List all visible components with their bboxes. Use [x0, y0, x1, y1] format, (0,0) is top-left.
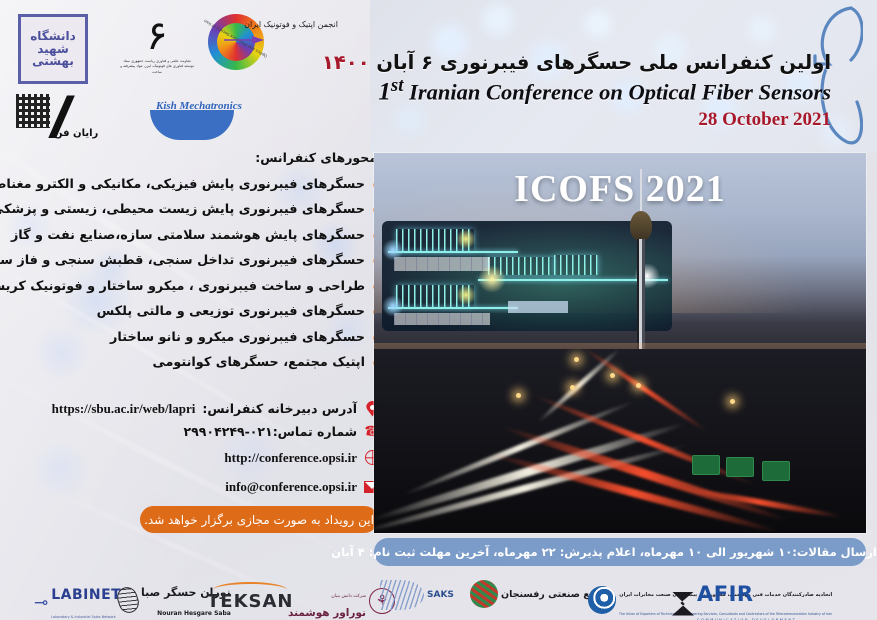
title-block: اولین کنفرانس ملی حسگرهای فیبرنوری ۶ آبا… — [322, 52, 831, 131]
light-blob — [456, 285, 476, 305]
swirl-icon — [588, 586, 616, 614]
sponsor-labinet: ⊸ LABINET Laboratory & Industrial Sales … — [34, 584, 121, 620]
logo-iran-caption: معاونت علمی و فناوری ریاست جمهوری ستاد ت… — [118, 59, 196, 75]
road-sign — [726, 457, 754, 477]
logo-iran-vice-presidency: ۶ معاونت علمی و فناوری ریاست جمهوری ستاد… — [118, 16, 196, 75]
address-link[interactable]: https://sbu.ac.ir/web/lapri — [52, 401, 196, 417]
arc-icon — [213, 582, 287, 590]
iran-emblem-icon: ۶ — [118, 16, 196, 56]
list-item: حسگرهای فیبرنوری توزیعی و مالتی پلکس — [7, 300, 379, 326]
conference-date: 28 October 2021 — [322, 109, 831, 131]
list-item: حسگرهای فیبرنوری میکرو و نانو ساختار — [7, 325, 379, 351]
address-label: آدرس دبیرخانه کنفرانس: — [202, 401, 357, 416]
sponsor-subtitle: شرکت دانش بنیان — [331, 594, 366, 599]
street-lamp — [610, 373, 615, 378]
tower-needle — [640, 169, 642, 213]
deadlines-bar: زمان ارسال مقالات:۱۰ شهریور الی ۱۰ مهرما… — [374, 538, 866, 566]
logo-optics-photonics-society-iran: Optics and Photonics Society of Iran — [200, 6, 272, 78]
light-blob — [456, 229, 476, 249]
sponsor-name: نوراور هوشمند — [288, 607, 366, 619]
fan-lines-icon — [380, 580, 424, 610]
sponsor-safir: AFIR COMMUNICATION DEVELOPMENT — [672, 582, 796, 620]
logo-opsi-ring-text: Optics and Photonics Society of Iran — [200, 6, 272, 78]
qr-pattern-icon — [16, 94, 50, 128]
highway-photo-area — [374, 349, 866, 533]
sponsor-name: SAKS — [427, 590, 454, 600]
contact-address-row: آدرس دبیرخانه کنفرانس: https://sbu.ac.ir… — [7, 400, 381, 417]
virtual-event-notice: این رویداد به صورت مجازی برگزار خواهد شد… — [140, 506, 378, 533]
logo-rayanfan-text: رایان فن — [54, 128, 98, 139]
safir-mark-icon — [672, 592, 694, 616]
logo-kish-text: Kish Mechatronics — [156, 100, 242, 112]
waveguide-coil-icon — [554, 255, 598, 275]
list-item: طراحی و ساخت فیبرنوری ، میکرو ساختار و ف… — [7, 274, 379, 300]
contact-phone-row: ☎ شماره تماس:۰۲۱-۲۹۹۰۴۲۴۹ — [7, 423, 381, 440]
logo-anjoman-text: انجمن اپتیک و فوتونیک ایران — [244, 20, 338, 29]
labinet-mark-icon: ⊸ — [34, 596, 48, 610]
waveguide-line — [388, 307, 518, 309]
sponsor-teksan: TEKSAN Detect Precisely — [207, 582, 293, 620]
topics-heading: محورهای کنفرانس: — [255, 150, 377, 165]
light-blob — [382, 295, 404, 317]
contact-email-row: info@conference.opsi.ir — [7, 478, 381, 495]
logo-shahid-beheshti-university: دانشگاه شهید بهشتی — [18, 14, 88, 84]
logo-rayan-fan: / رایان فن — [16, 92, 120, 144]
title-english: 1st Iranian Conference on Optical Fiber … — [322, 75, 831, 107]
topics-list: حسگرهای فیبرنوری پایش فیزیکی، مکانیکی و … — [7, 172, 379, 376]
logo-kish-mechatronics: Kish Mechatronics — [144, 96, 242, 142]
street-lamp — [636, 383, 641, 388]
sponsor-saks: SAKS — [380, 580, 454, 610]
street-lamp — [516, 393, 521, 398]
contact-website-row: http://conference.opsi.ir — [7, 449, 381, 466]
logo-sbu-text: دانشگاه شهید بهشتی — [21, 30, 85, 69]
sponsor-name: TEKSAN — [207, 591, 293, 612]
road-sign — [762, 461, 790, 481]
conference-hero-image: ICOFS 2021 — [374, 153, 866, 533]
list-item: اپتیک مجتمع، حسگرهای کوانتومی — [7, 351, 379, 377]
email-link[interactable]: info@conference.opsi.ir — [225, 479, 357, 495]
street-lamp — [574, 357, 579, 362]
title-persian: اولین کنفرانس ملی حسگرهای فیبرنوری ۶ آبا… — [322, 52, 831, 74]
grating-plate — [394, 313, 490, 325]
sponsor-logo-bar: ⊸ LABINET Laboratory & Industrial Sales … — [0, 572, 877, 620]
caliper-icon — [508, 301, 568, 313]
sponsor-name: AFIR — [697, 582, 754, 606]
conference-poster: اولین کنفرانس ملی حسگرهای فیبرنوری ۶ آبا… — [0, 0, 877, 620]
waveguide-line — [388, 251, 518, 253]
road-sign — [692, 455, 720, 475]
street-lamp — [730, 399, 735, 404]
light-blob — [382, 239, 404, 261]
list-item: حسگرهای فیبرنوری پایش زیست محیطی، زیستی … — [7, 198, 379, 224]
list-item: حسگرهای پایش هوشمند سلامتی سازه،صنایع نف… — [7, 223, 379, 249]
logo-optics-photonics-association: انجمن اپتیک و فوتونیک ایران — [278, 14, 342, 76]
striped-disc-icon — [470, 580, 498, 608]
banner-title: ICOFS 2021 — [374, 167, 866, 211]
contact-block: آدرس دبیرخانه کنفرانس: https://sbu.ac.ir… — [7, 400, 381, 495]
list-item: حسگرهای فیبرنوری تداخل سنجی، قطبش سنجی و… — [7, 249, 379, 275]
website-link[interactable]: http://conference.opsi.ir — [224, 450, 357, 466]
bowl-shape-icon — [150, 110, 234, 140]
tower-pod — [630, 211, 652, 241]
sponsor-nooravar-hooshmand: شرکت دانش بنیان نوراور هوشمند ⚘ — [288, 582, 395, 620]
street-lamp — [570, 385, 575, 390]
sponsor-name: LABINET — [51, 587, 121, 603]
sponsor-subtitle: Laboratory & Industrial Sales Network — [51, 615, 116, 619]
grating-plate — [394, 257, 490, 271]
phone-label: شماره تماس:۰۲۱-۲۹۹۰۴۲۴۹ — [184, 424, 357, 439]
list-item: حسگرهای فیبرنوری پایش فیزیکی، مکانیکی و … — [7, 172, 379, 198]
light-blob — [478, 265, 506, 293]
fiber-coil-icon — [114, 585, 141, 616]
